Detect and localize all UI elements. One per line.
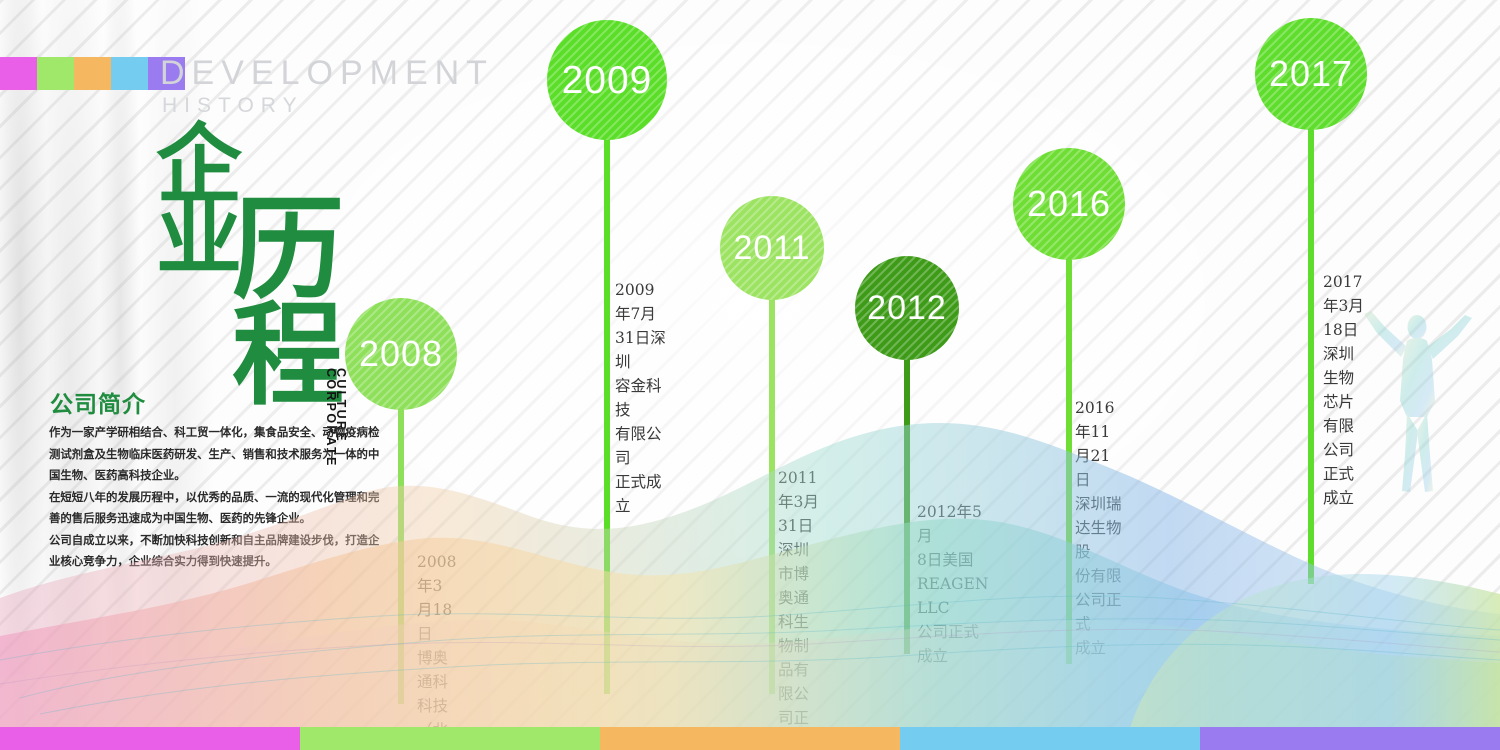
footer-bar-segment-3 xyxy=(600,727,900,750)
page-title-secondary: HISTORY xyxy=(162,95,304,116)
milestone-caption-2008: 2008年3月18日 博奥通科科技 （北京）有限 公司成立 xyxy=(417,550,457,750)
balloon-year-label: 2016 xyxy=(1027,186,1111,222)
intro-paragraph-3: 公司自成立以来，不断加快科技创新和自主品牌建设步伐，打造企业核心竞争力，企业综合… xyxy=(49,530,383,573)
header-swatch-2 xyxy=(37,57,74,90)
balloon-head[interactable]: 2016 xyxy=(1013,148,1125,260)
balloon-year-label: 2017 xyxy=(1269,56,1353,92)
balloon-head[interactable]: 2009 xyxy=(547,20,667,140)
header-swatch-3 xyxy=(74,57,111,90)
balloon-year-label: 2012 xyxy=(867,291,947,325)
footer-bar-segment-2 xyxy=(300,727,600,750)
balloon-year-label: 2011 xyxy=(733,231,810,265)
milestone-caption-2012: 2012年5月 8日美国 REAGEN LLC 公司正式成立 xyxy=(917,500,988,668)
balloon-stem xyxy=(904,354,910,654)
timeline-milestone-2009[interactable]: 20092009年7月 31日深圳 容金科技 有限公司 正式成立 xyxy=(547,20,667,140)
header-color-swatches xyxy=(0,57,185,90)
timeline-milestone-2012[interactable]: 20122012年5月 8日美国 REAGEN LLC 公司正式成立 xyxy=(855,256,959,360)
company-intro-heading: 公司简介 xyxy=(50,385,146,419)
balloon-stem xyxy=(604,134,610,694)
cn-title-char-3: 历 xyxy=(232,194,344,306)
intro-paragraph-1: 作为一家产学研相结合、科工贸一体化，集食品安全、动物疫病检测试剂盒及生物临床医药… xyxy=(49,422,383,487)
cn-title-char-2: 业 xyxy=(156,194,242,280)
balloon-stem xyxy=(1066,254,1072,664)
timeline-milestone-2008[interactable]: 20082008年3月18日 博奥通科科技 （北京）有限 公司成立 xyxy=(345,298,457,410)
balloon-stem xyxy=(1308,124,1314,584)
footer-bar-segment-1 xyxy=(0,727,300,750)
footer-bar-segment-4 xyxy=(900,727,1200,750)
balloon-head[interactable]: 2011 xyxy=(720,196,824,300)
page-title-primary: DEVELOPMENT xyxy=(160,56,494,90)
footer-color-bar xyxy=(0,727,1500,750)
balloon-head[interactable]: 2012 xyxy=(855,256,959,360)
company-intro-body: 作为一家产学研相结合、科工贸一体化，集食品安全、动物疫病检测试剂盒及生物临床医药… xyxy=(49,422,383,573)
balloon-year-label: 2008 xyxy=(359,336,443,372)
balloon-head[interactable]: 2017 xyxy=(1255,18,1367,130)
balloon-stem xyxy=(769,294,775,694)
balloon-head[interactable]: 2008 xyxy=(345,298,457,410)
footer-bar-segment-5 xyxy=(1200,727,1500,750)
timeline-milestone-2017[interactable]: 20172017年3月18日 深圳生物芯片 有限公司正式 成立 xyxy=(1255,18,1367,130)
header-swatch-4 xyxy=(111,57,148,90)
timeline-milestone-2016[interactable]: 20162016年11月21日 深圳瑞达生物股 份有限公司正式 成立 xyxy=(1013,148,1125,260)
milestone-caption-2009: 2009年7月 31日深圳 容金科技 有限公司 正式成立 xyxy=(615,278,667,518)
balloon-year-label: 2009 xyxy=(562,61,653,100)
milestone-caption-2016: 2016年11月21日 深圳瑞达生物股 份有限公司正式 成立 xyxy=(1075,396,1125,660)
person-silhouette-arms-raised xyxy=(1355,305,1480,505)
balloon-stem xyxy=(398,404,404,704)
header-swatch-1 xyxy=(0,57,37,90)
poster-canvas: DEVELOPMENT HISTORY 企 业 历 程 CULTURE CORP… xyxy=(0,0,1500,750)
intro-paragraph-2: 在短短八年的发展历程中，以优秀的品质、一流的现代化管理和完善的售后服务迅速成为中… xyxy=(49,487,383,530)
chinese-title-block: 企 业 历 程 CULTURE CORPORATE xyxy=(150,122,350,392)
timeline-milestone-2011[interactable]: 20112011年3月 31日深圳 市博奥通 科生物制 品有限公 司正式成立 xyxy=(720,196,824,300)
milestone-caption-2011: 2011年3月 31日深圳 市博奥通 科生物制 品有限公 司正式成立 xyxy=(778,466,824,750)
